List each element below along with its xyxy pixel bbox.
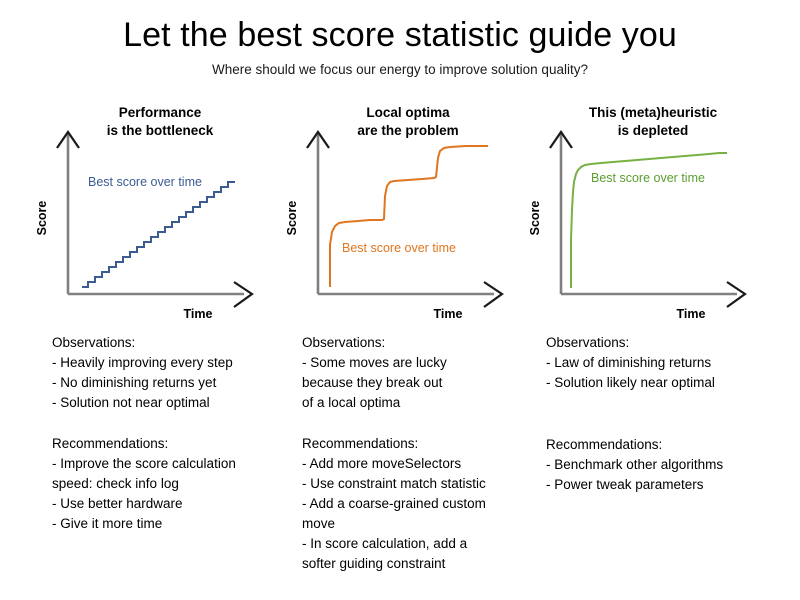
observations-heading: Observations: bbox=[302, 333, 528, 353]
observation-item: - Law of diminishing returns bbox=[546, 353, 788, 373]
observations-heading: Observations: bbox=[546, 333, 788, 353]
y-axis-label: Score bbox=[285, 201, 299, 236]
recommendations-heading: Recommendations: bbox=[546, 435, 788, 455]
observation-item-cont: because they break out bbox=[302, 373, 528, 393]
series-annotation: Best score over time bbox=[342, 241, 456, 255]
observations-heading: Observations: bbox=[52, 333, 290, 353]
series-line-best-score bbox=[82, 182, 235, 287]
notes-column-depleted: Observations: - Law of diminishing retur… bbox=[546, 333, 788, 495]
recommendation-item: - Benchmark other algorithms bbox=[546, 455, 788, 475]
panel-performance-bottleneck: Performance is the bottleneck Score Time… bbox=[20, 104, 270, 324]
series-annotation: Best score over time bbox=[88, 175, 202, 189]
recommendation-item-cont: speed: check info log bbox=[52, 474, 290, 494]
recommendation-item-cont: softer guiding constraint bbox=[302, 554, 528, 574]
recommendation-item: - Add a coarse-grained custom bbox=[302, 494, 528, 514]
y-axis-label: Score bbox=[528, 201, 542, 236]
spacer bbox=[546, 414, 788, 435]
notes-column-local-optima: Observations: - Some moves are lucky bec… bbox=[302, 333, 528, 574]
header: Let the best score statistic guide you W… bbox=[0, 0, 800, 77]
spacer bbox=[546, 393, 788, 414]
recommendation-item: - In score calculation, add a bbox=[302, 534, 528, 554]
page-title: Let the best score statistic guide you bbox=[0, 0, 800, 54]
recommendation-item-cont: move bbox=[302, 514, 528, 534]
chart-heuristic-depleted: Score Time Best score over time bbox=[513, 110, 763, 324]
spacer bbox=[302, 413, 528, 434]
observation-item: - Heavily improving every step bbox=[52, 353, 290, 373]
recommendation-item: - Add more moveSelectors bbox=[302, 454, 528, 474]
panel-heuristic-depleted: This (meta)heuristic is depleted Score T… bbox=[513, 104, 763, 324]
series-annotation: Best score over time bbox=[591, 171, 705, 185]
panel-local-optima: Local optima are the problem Score Time … bbox=[270, 104, 520, 324]
spacer bbox=[52, 413, 290, 434]
recommendations-heading: Recommendations: bbox=[302, 434, 528, 454]
recommendations-heading: Recommendations: bbox=[52, 434, 290, 454]
series-line-best-score bbox=[330, 146, 488, 287]
notes-column-performance: Observations: - Heavily improving every … bbox=[52, 333, 290, 534]
observation-item-cont: of a local optima bbox=[302, 393, 528, 413]
recommendation-item: - Use constraint match statistic bbox=[302, 474, 528, 494]
recommendation-item: - Give it more time bbox=[52, 514, 290, 534]
x-axis-label: Time bbox=[184, 307, 213, 321]
observation-item: - No diminishing returns yet bbox=[52, 373, 290, 393]
chart-local-optima: Score Time Best score over time bbox=[270, 110, 520, 324]
x-axis-label: Time bbox=[434, 307, 463, 321]
recommendation-item: - Improve the score calculation bbox=[52, 454, 290, 474]
x-axis-label: Time bbox=[677, 307, 706, 321]
recommendation-item: - Power tweak parameters bbox=[546, 475, 788, 495]
page-subtitle: Where should we focus our energy to impr… bbox=[0, 54, 800, 77]
chart-performance-bottleneck: Score Time Best score over time bbox=[20, 110, 270, 324]
observation-item: - Solution likely near optimal bbox=[546, 373, 788, 393]
y-axis-label: Score bbox=[35, 201, 49, 236]
recommendation-item: - Use better hardware bbox=[52, 494, 290, 514]
observation-item: - Solution not near optimal bbox=[52, 393, 290, 413]
observation-item: - Some moves are lucky bbox=[302, 353, 528, 373]
